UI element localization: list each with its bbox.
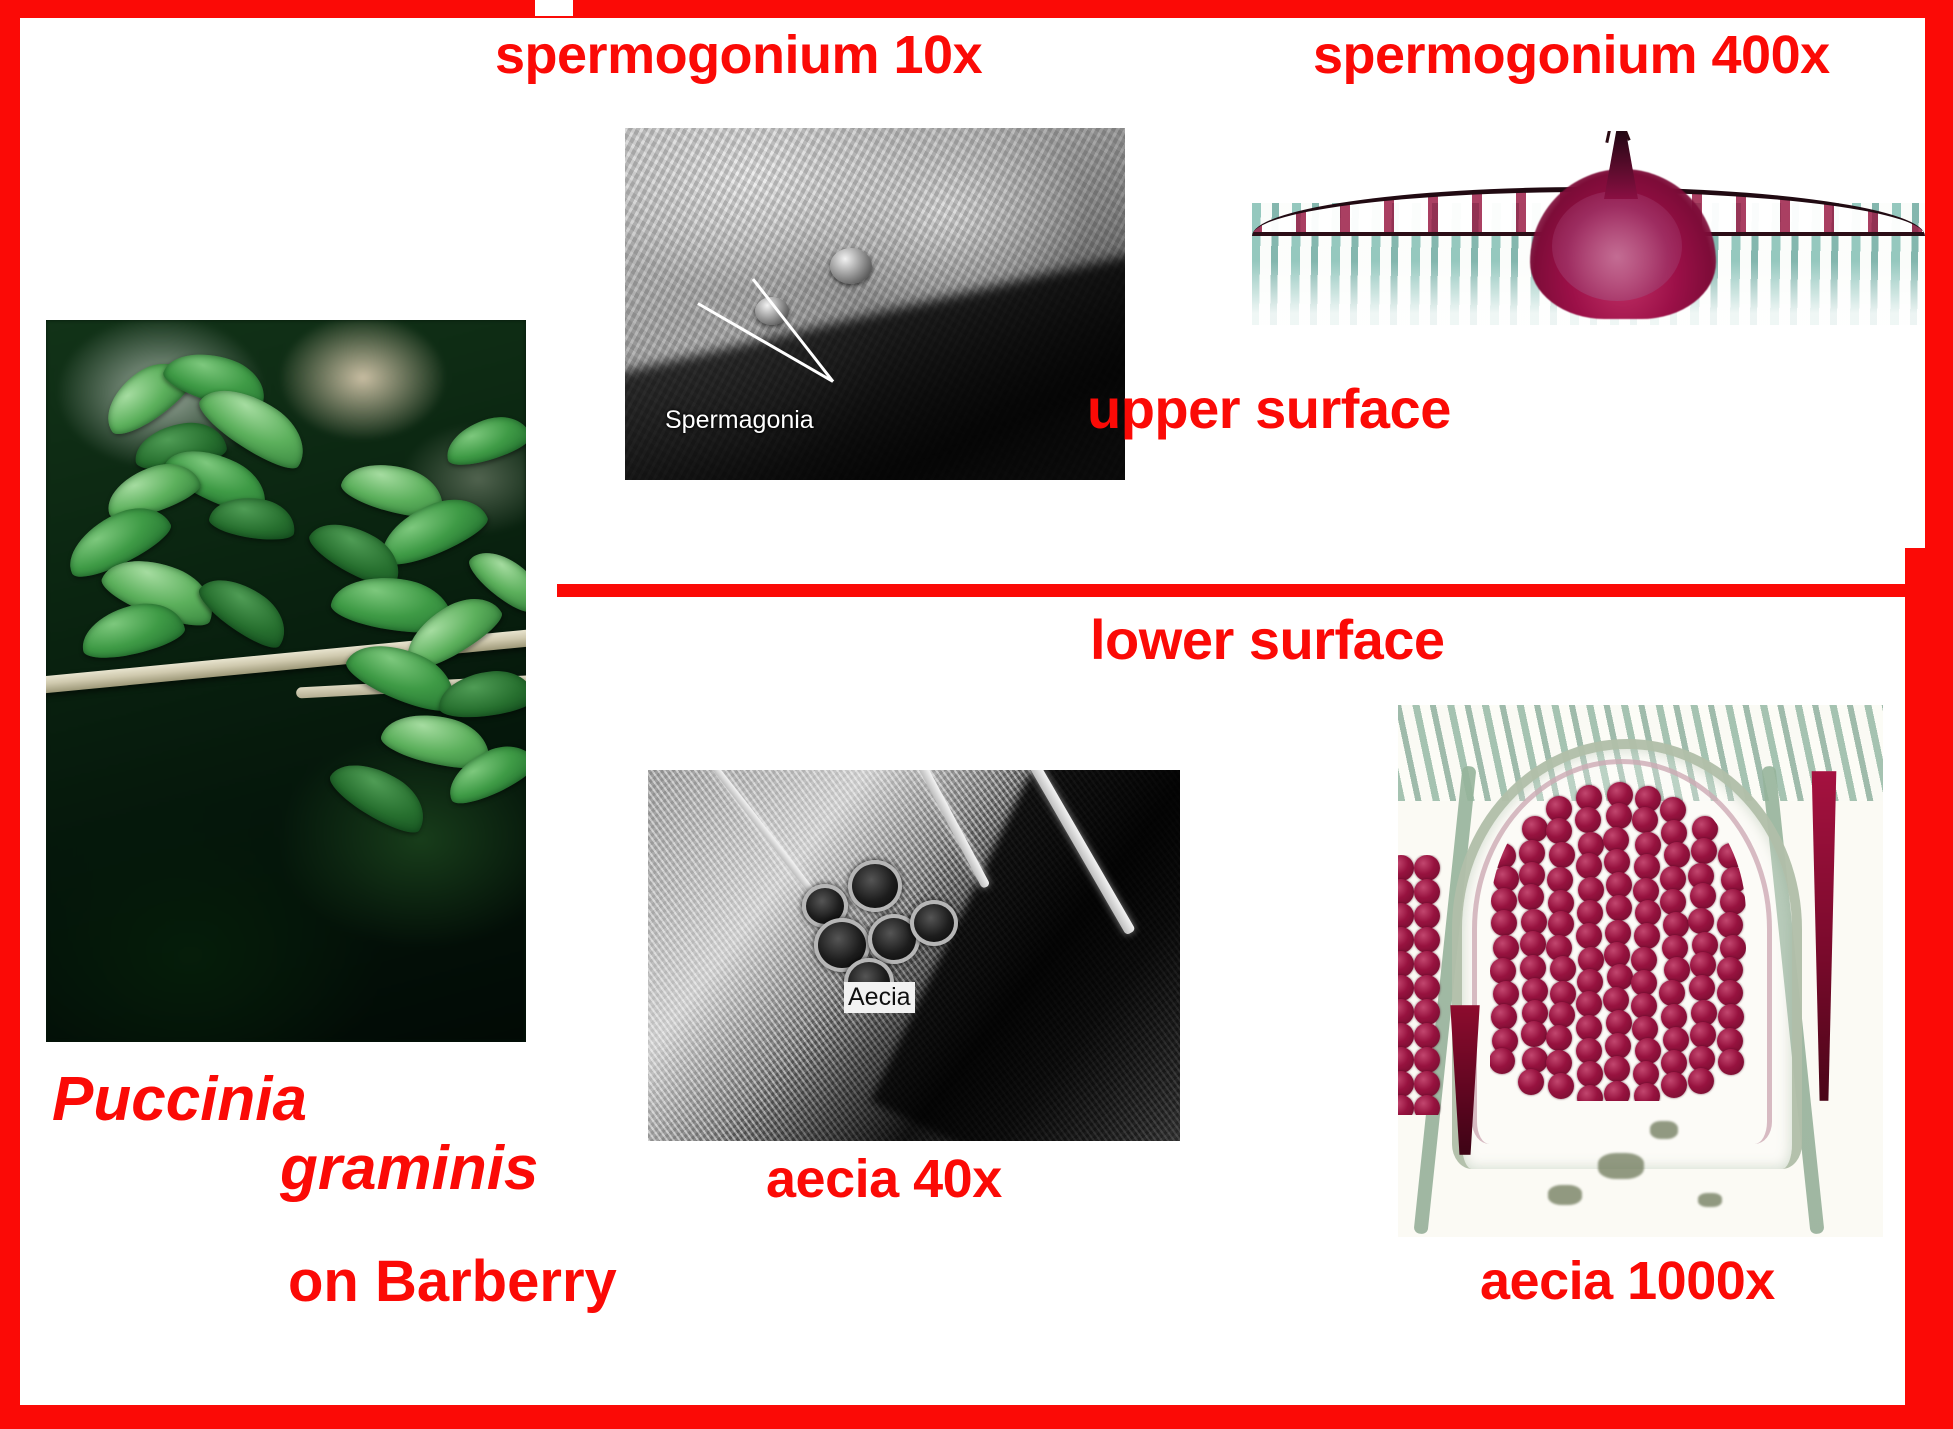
aeciospore bbox=[1550, 956, 1576, 982]
border-right-upper bbox=[1925, 0, 1953, 548]
aeciospore bbox=[1606, 803, 1632, 829]
aeciospore bbox=[1664, 957, 1690, 983]
figure-barberry-plant bbox=[46, 320, 526, 1042]
figure-spermogonium-10x: Spermagonia bbox=[625, 128, 1125, 480]
aeciospore bbox=[1690, 952, 1716, 978]
aeciospore bbox=[1688, 908, 1714, 934]
aeciospore bbox=[1398, 879, 1414, 905]
caption-aecia-40x: aecia 40x bbox=[766, 1152, 1002, 1206]
tissue-debris bbox=[1650, 1121, 1678, 1139]
aecia-label: Aecia bbox=[844, 982, 915, 1013]
aeciospore bbox=[1604, 849, 1630, 875]
aeciospore bbox=[1576, 923, 1602, 949]
figure-aecia-1000x bbox=[1398, 705, 1883, 1237]
aeciospore bbox=[1520, 931, 1546, 957]
aeciospore bbox=[1491, 1004, 1517, 1030]
tissue-debris bbox=[1598, 1153, 1644, 1179]
aeciospore bbox=[1398, 927, 1414, 953]
aeciospore bbox=[1414, 927, 1440, 953]
aeciospore bbox=[1604, 1056, 1630, 1082]
aeciospore bbox=[1520, 955, 1546, 981]
aeciospore bbox=[1398, 951, 1414, 977]
adjacent-aeciospores bbox=[1398, 855, 1462, 1115]
aeciospore bbox=[1634, 1083, 1660, 1101]
aeciospore bbox=[1398, 903, 1414, 929]
aeciospore bbox=[1518, 884, 1544, 910]
aeciospore bbox=[1576, 853, 1602, 879]
aeciospore bbox=[1414, 951, 1440, 977]
spermogonium-neck bbox=[1604, 131, 1638, 199]
aeciospore bbox=[1414, 1095, 1440, 1115]
aeciospore bbox=[1414, 1071, 1440, 1097]
caption-spermogonium-10x: spermogonium 10x bbox=[495, 28, 982, 82]
aeciospore bbox=[1607, 964, 1633, 990]
aeciospore bbox=[1522, 816, 1548, 842]
aeciospore bbox=[1577, 1061, 1603, 1087]
aeciospore bbox=[1546, 818, 1572, 844]
aeciospore bbox=[1576, 991, 1602, 1017]
aeciospore bbox=[1521, 1021, 1547, 1047]
aeciospore bbox=[1398, 1071, 1414, 1097]
aeciospore bbox=[1414, 903, 1440, 929]
spermagonium-bump bbox=[830, 248, 872, 284]
stained-hypha bbox=[1802, 771, 1846, 1101]
aeciospore bbox=[1663, 1027, 1689, 1053]
aeciospore-mass bbox=[1490, 771, 1746, 1101]
aeciospore bbox=[1664, 842, 1690, 868]
aeciospore bbox=[1631, 993, 1657, 1019]
aeciospore bbox=[1546, 1025, 1572, 1051]
aeciospore bbox=[1691, 838, 1717, 864]
aeciospore bbox=[1414, 1023, 1440, 1049]
aeciospore bbox=[1690, 1022, 1716, 1048]
border-left bbox=[0, 0, 20, 1429]
aeciospore bbox=[1414, 975, 1440, 1001]
aeciospore bbox=[1604, 1081, 1630, 1101]
aeciospore bbox=[1398, 1047, 1414, 1073]
aeciospore bbox=[1398, 1023, 1414, 1049]
surface-divider-line bbox=[557, 584, 1925, 597]
species-epithet: graminis bbox=[280, 1134, 772, 1203]
aeciospore bbox=[1548, 1073, 1574, 1099]
aeciospore bbox=[1717, 912, 1743, 938]
border-top bbox=[0, 0, 1953, 18]
aeciospore bbox=[1398, 855, 1414, 881]
aeciospore bbox=[1718, 843, 1744, 869]
aeciospore bbox=[1575, 807, 1601, 833]
slide-canvas: Spermagonia Aecia bbox=[0, 0, 1953, 1429]
aeciospore bbox=[1717, 957, 1743, 983]
aeciospore bbox=[1549, 842, 1575, 868]
aeciospore bbox=[1603, 987, 1629, 1013]
periphysis bbox=[1605, 131, 1613, 143]
aeciospore bbox=[1576, 1038, 1602, 1064]
aeciospore bbox=[1398, 975, 1414, 1001]
aeciospore bbox=[1635, 1038, 1661, 1064]
aeciospore bbox=[1718, 1004, 1744, 1030]
aeciospore bbox=[1690, 883, 1716, 909]
aeciospore bbox=[1547, 867, 1573, 893]
aeciospore bbox=[1632, 807, 1658, 833]
aeciospore bbox=[1549, 1002, 1575, 1028]
aeciospore bbox=[1490, 843, 1516, 869]
aecium-cup bbox=[848, 860, 902, 912]
aeciospore bbox=[1414, 999, 1440, 1025]
caption-upper-surface: upper surface bbox=[1087, 381, 1451, 437]
tissue-debris bbox=[1698, 1193, 1722, 1207]
caption-lower-surface: lower surface bbox=[1090, 612, 1445, 668]
aeciospore bbox=[1518, 1069, 1544, 1095]
border-bottom bbox=[0, 1405, 1953, 1429]
caption-spermogonium-400x: spermogonium 400x bbox=[1313, 28, 1830, 82]
aeciospore bbox=[1661, 1072, 1687, 1098]
aeciospore bbox=[1660, 797, 1686, 823]
aeciospore bbox=[1661, 1004, 1687, 1030]
species-host: on Barberry bbox=[288, 1250, 772, 1315]
aeciospore bbox=[1414, 855, 1440, 881]
tissue-debris bbox=[1548, 1185, 1582, 1205]
caption-aecia-1000x: aecia 1000x bbox=[1480, 1254, 1775, 1308]
aeciospore bbox=[1577, 1085, 1603, 1101]
aeciospore bbox=[1689, 975, 1715, 1001]
aeciospore bbox=[1398, 1095, 1414, 1115]
aecium-cup bbox=[910, 900, 958, 946]
species-genus: Puccinia bbox=[52, 1065, 772, 1134]
species-name-block: Puccinia graminis on Barberry bbox=[52, 1065, 772, 1315]
border-right-lower bbox=[1905, 548, 1953, 1429]
aeciospore bbox=[1576, 1015, 1602, 1041]
aeciospore bbox=[1606, 895, 1632, 921]
aeciospore bbox=[1490, 1048, 1515, 1074]
spermogonium-core bbox=[1552, 191, 1682, 301]
aeciospore bbox=[1578, 877, 1604, 903]
aeciospore bbox=[1414, 879, 1440, 905]
aeciospore bbox=[1688, 1068, 1714, 1094]
aeciospore bbox=[1634, 923, 1660, 949]
aeciospore bbox=[1659, 980, 1685, 1006]
aeciospore bbox=[1548, 911, 1574, 937]
spermagonia-label: Spermagonia bbox=[665, 406, 814, 435]
border-top-notch bbox=[535, 0, 573, 16]
aeciospore bbox=[1414, 1047, 1440, 1073]
aeciospore bbox=[1493, 935, 1519, 961]
aeciospore bbox=[1720, 889, 1746, 915]
aeciospore bbox=[1718, 1049, 1744, 1075]
aeciospore bbox=[1398, 999, 1414, 1025]
figure-spermogonium-400x bbox=[1252, 131, 1925, 325]
aeciospore bbox=[1491, 910, 1517, 936]
aeciospore bbox=[1634, 854, 1660, 880]
aeciospore bbox=[1717, 980, 1743, 1006]
